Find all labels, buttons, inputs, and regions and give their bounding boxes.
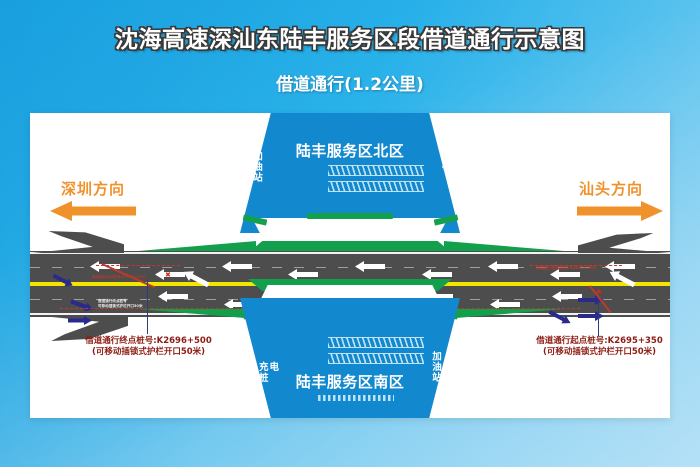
on-road-white-note: 借道通行终点桩号可移动插锁式护栏开口50米 [98, 299, 143, 310]
crossover-dashed-top-left [96, 265, 180, 266]
callout-start-line2: (可移动插锁式护栏开口50米) [487, 347, 700, 358]
traffic-arrow-upper-5 [355, 261, 385, 272]
south-parking-bays-row2 [328, 353, 424, 364]
south-gas-station-label: 加油站 [428, 351, 442, 383]
arrow-right-icon [574, 201, 666, 225]
crossover-marker-left: ✖ [165, 271, 171, 279]
page-subtitle: 借道通行(1.2公里) [0, 70, 700, 95]
north-parking-bays-row1 [328, 165, 424, 176]
ramp-arrow-right-2 [578, 311, 604, 321]
direction-shantou-label: 汕头方向 [556, 178, 666, 199]
south-charging-pile-label: 充电桩 [259, 363, 285, 385]
page-title: 沈海高速深汕东陆丰服务区段借道通行示意图 [0, 20, 700, 54]
service-area-south-label: 陆丰服务区南区 [285, 371, 415, 392]
callout-end-station: 借道通行终点桩号:K2696+500 (可移动插锁式护栏开口50米) [36, 336, 261, 359]
south-lower-hatch [318, 395, 394, 401]
diagram-panel: 陆丰服务区北区 加油站 充电桩 [30, 113, 670, 418]
north-charging-pile-label: 充电桩 [442, 151, 468, 173]
callout-end-line2: (可移动插锁式护栏开口50米) [36, 347, 261, 358]
traffic-arrow-upper-7 [488, 261, 518, 272]
callout-leader-left [147, 280, 148, 334]
north-parking-bays-row2 [328, 181, 424, 192]
ramp-curve-right-top [578, 233, 670, 253]
road-edge-line-top [30, 252, 670, 254]
north-gas-station-label: 加油站 [249, 151, 263, 183]
green-verge-north-left [138, 241, 256, 251]
arrow-left-icon [38, 201, 148, 225]
on-road-red-note-left: 借道通行终点桩号:K2696+500 [92, 275, 146, 280]
traffic-arrow-upper-3 [222, 261, 252, 272]
callout-leader-right [598, 300, 599, 336]
crossover-marker-right: ✖ [596, 288, 602, 296]
on-road-red-note-right: 借道通行起点桩号:K2695+350 [536, 265, 596, 271]
direction-shenzhen: 深圳方向 [38, 178, 148, 225]
traffic-arrow-lower-1 [158, 291, 188, 302]
header: 沈海高速深汕东陆丰服务区段借道通行示意图 借道通行(1.2公里) [0, 20, 700, 95]
south-parking-bays-row1 [328, 337, 424, 348]
green-tab-north-center [307, 213, 393, 219]
traffic-arrow-upper-4 [288, 269, 318, 280]
direction-shantou: 汕头方向 [556, 178, 666, 225]
ramp-arrow-left-2 [68, 316, 92, 325]
callout-start-station: 借道通行起点桩号:K2695+350 (可移动插锁式护栏开口50米) [487, 336, 700, 359]
direction-shenzhen-label: 深圳方向 [38, 178, 148, 199]
callout-end-line1: 借道通行终点桩号:K2696+500 [36, 336, 261, 347]
green-verge-north-right [444, 241, 564, 251]
callout-start-line1: 借道通行起点桩号:K2695+350 [487, 336, 700, 347]
service-area-north-label: 陆丰服务区北区 [285, 140, 415, 161]
traffic-arrow-upper-6 [422, 269, 452, 280]
ramp-curve-left-top [32, 231, 124, 253]
